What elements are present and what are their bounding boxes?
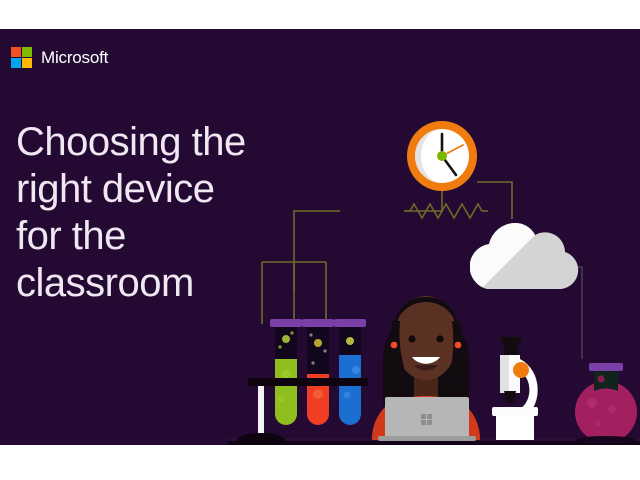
microscope-base: [496, 416, 534, 440]
focus-knob: [513, 362, 529, 378]
slide-canvas: Microsoft Choosing the right device for …: [0, 29, 640, 445]
round-flask: [575, 363, 637, 444]
test-tube-red: [302, 319, 334, 425]
clock-hub: [437, 151, 447, 161]
wall-clock: [407, 121, 477, 191]
eye-right: [436, 335, 443, 342]
cloud: [470, 214, 590, 300]
tube-cap: [270, 319, 302, 327]
earring-left: [391, 342, 398, 349]
laptop: [378, 397, 476, 441]
earring-right: [455, 342, 462, 349]
eye-left: [408, 335, 415, 342]
test-tube-rack: [237, 319, 368, 445]
flask-stopper: [589, 363, 623, 371]
stage: [492, 407, 538, 416]
rack-bar: [248, 378, 368, 386]
stand-pole: [258, 381, 264, 439]
test-tube-green: [270, 319, 302, 425]
test-tube-blue: [334, 319, 366, 425]
tube-cap: [334, 319, 366, 327]
microscope: [492, 337, 538, 440]
stand-base: [237, 433, 285, 445]
science-classroom-illustration: [0, 29, 640, 445]
laptop-base: [378, 436, 476, 441]
objective-lens: [504, 391, 516, 403]
tube-cap: [302, 319, 334, 327]
